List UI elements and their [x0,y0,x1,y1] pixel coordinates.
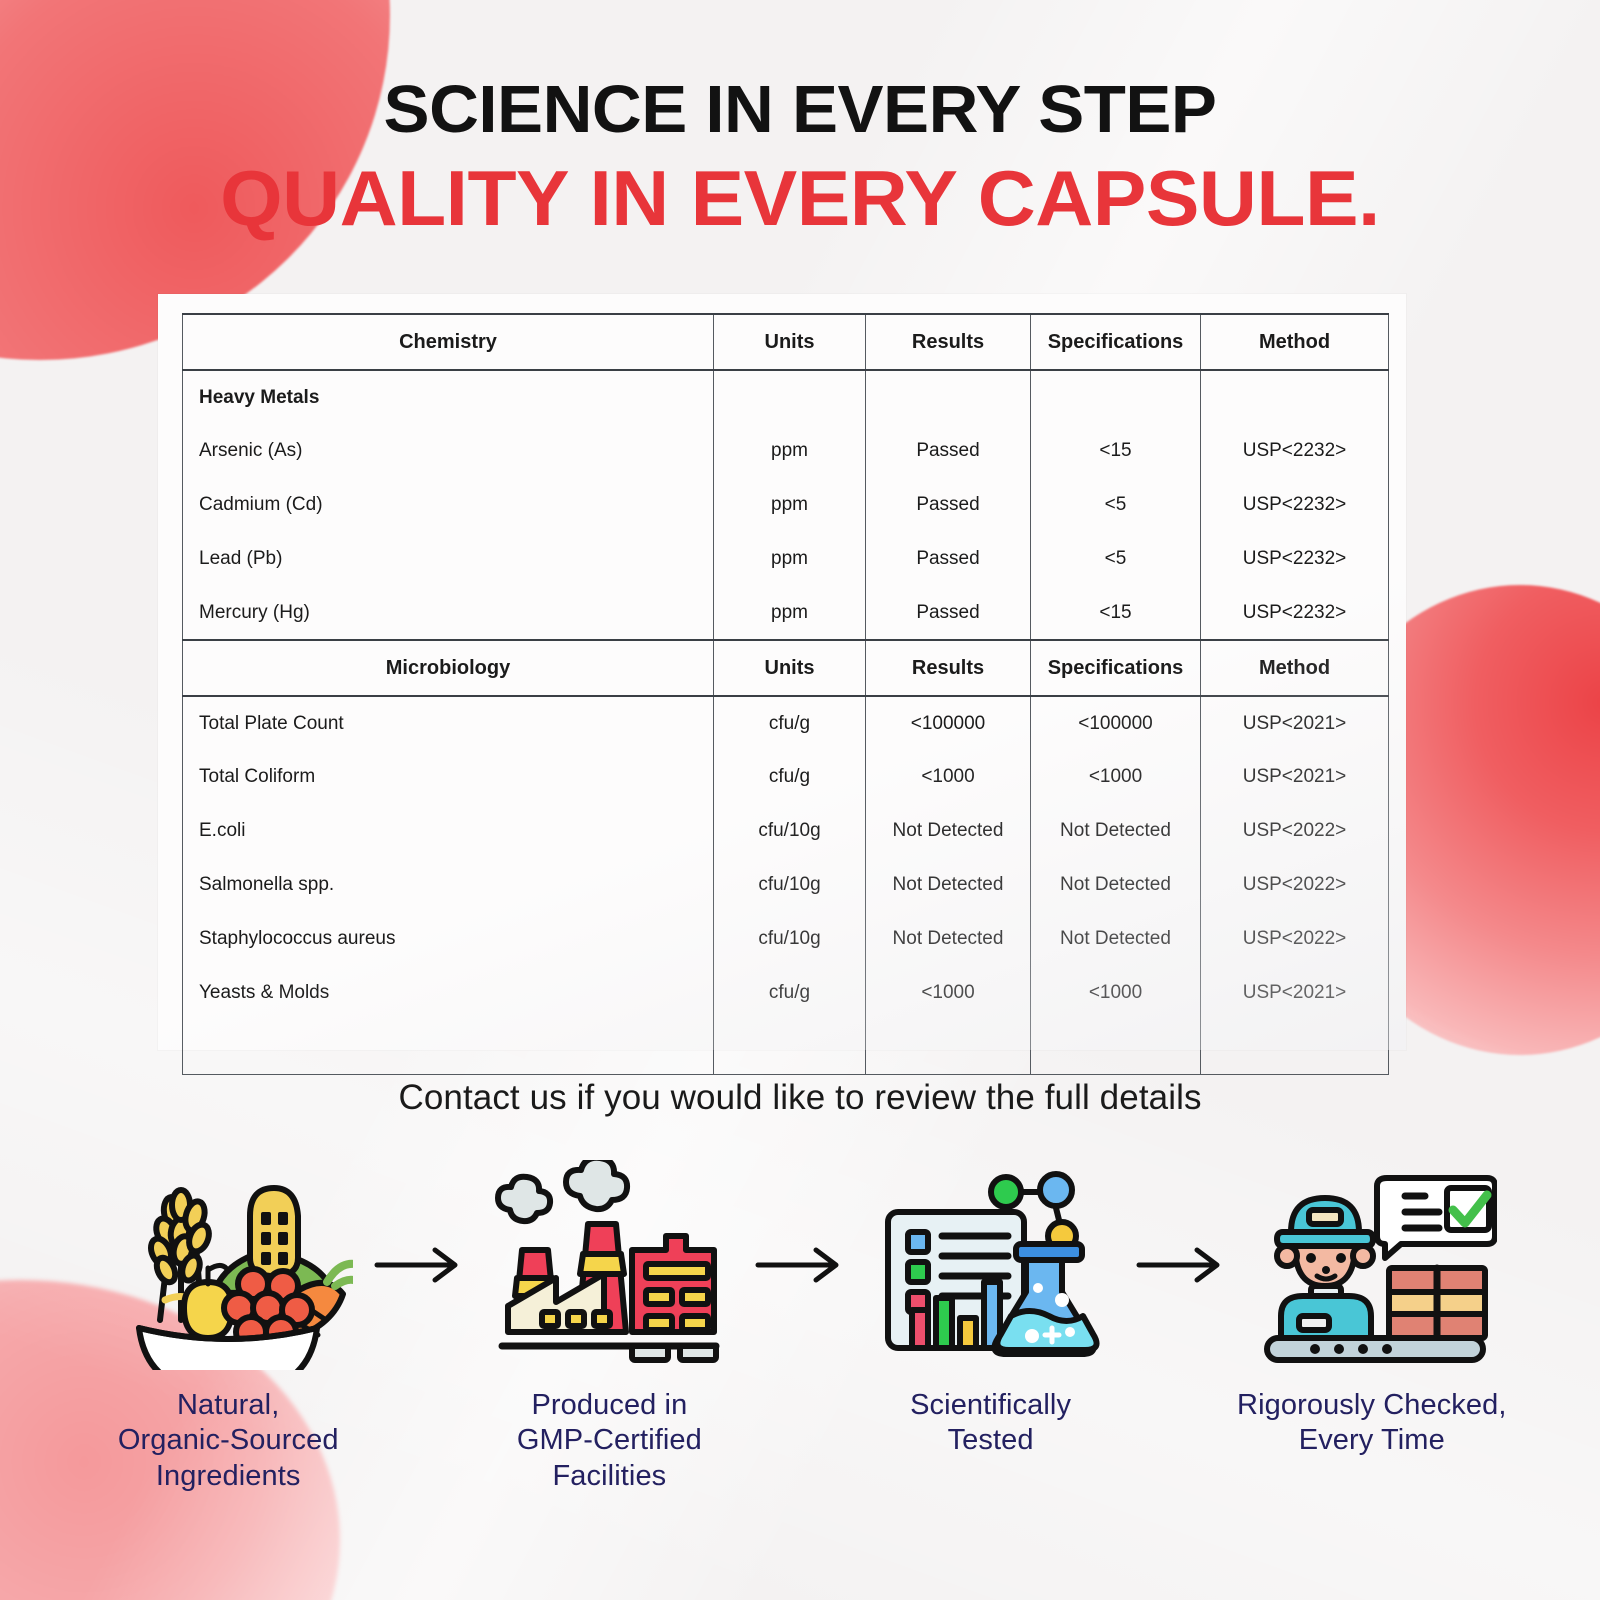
analyte-name: E.coli [183,804,714,858]
process-step-label: Rigorously Checked, Every Time [1237,1388,1506,1459]
table-row: Lead (Pb) ppm Passed <5 USP<2232> [183,532,1389,586]
process-step-testing: Scientifically Tested [852,1160,1128,1459]
analyte-spec: <15 [1031,586,1201,640]
analyte-units: cfu/10g [714,912,866,966]
table-row: Arsenic (As) ppm Passed <15 USP<2232> [183,424,1389,478]
analyte-spec: <100000 [1031,696,1201,750]
analyte-units: cfu/g [714,696,866,750]
bottom-spacer-units [714,1020,866,1074]
column-header-method-micro: Method [1201,640,1389,696]
analyte-units: ppm [714,586,866,640]
analyte-method: USP<2021> [1201,966,1389,1020]
table-row: E.coli cfu/10g Not Detected Not Detected… [183,804,1389,858]
process-step-label: Produced in GMP-Certified Facilities [517,1388,702,1494]
analyte-result: <1000 [866,750,1031,804]
analyte-name: Total Coliform [183,750,714,804]
column-header-specifications: Specifications [1031,314,1201,370]
analyte-spec: <1000 [1031,966,1201,1020]
analyte-spec: Not Detected [1031,804,1201,858]
column-header-method: Method [1201,314,1389,370]
analyte-name: Mercury (Hg) [183,586,714,640]
quality-worker-icon [1247,1160,1497,1370]
process-step-label: Natural, Organic-Sourced Ingredients [118,1388,339,1494]
analyte-result: <1000 [866,966,1031,1020]
analyte-result: <100000 [866,696,1031,750]
analyte-result: Not Detected [866,912,1031,966]
group-label-units-spacer [714,370,866,424]
analyte-result: Passed [866,586,1031,640]
analyte-result: Passed [866,424,1031,478]
table-row: Cadmium (Cd) ppm Passed <5 USP<2232> [183,478,1389,532]
process-step-facility: Produced in GMP-Certified Facilities [471,1160,747,1494]
analyte-method: USP<2022> [1201,912,1389,966]
coa-document-card: Chemistry Units Results Specifications M… [158,294,1406,1050]
lab-testing-icon [866,1160,1116,1370]
table-row: Salmonella spp. cfu/10g Not Detected Not… [183,858,1389,912]
process-strip: Natural, Organic-Sourced Ingredients [90,1160,1510,1494]
analyte-units: cfu/10g [714,858,866,912]
group-label-heavy-metals: Heavy Metals [183,370,714,424]
table-row: Mercury (Hg) ppm Passed <15 USP<2232> [183,586,1389,640]
bottom-spacer-result [866,1020,1031,1074]
analyte-units: cfu/g [714,750,866,804]
poster-canvas: SCIENCE IN EVERY STEP QUALITY IN EVERY C… [0,0,1600,1600]
table-row: Total Coliform cfu/g <1000 <1000 USP<202… [183,750,1389,804]
analyte-spec: <5 [1031,532,1201,586]
analyte-units: ppm [714,424,866,478]
arrow-right-icon [366,1160,471,1370]
process-step-label: Scientifically Tested [910,1388,1071,1459]
table-section-header-microbiology: Microbiology Units Results Specification… [183,640,1389,696]
analyte-spec: <1000 [1031,750,1201,804]
analyte-result: Not Detected [866,804,1031,858]
analyte-name: Total Plate Count [183,696,714,750]
headline-line-2: QUALITY IN EVERY CAPSULE. [0,159,1600,237]
column-header-results: Results [866,314,1031,370]
analyte-method: USP<2232> [1201,478,1389,532]
analyte-method: USP<2232> [1201,532,1389,586]
group-label-spec-spacer [1031,370,1201,424]
analyte-name: Cadmium (Cd) [183,478,714,532]
analyte-method: USP<2022> [1201,858,1389,912]
analyte-result: Not Detected [866,858,1031,912]
table-row: Total Plate Count cfu/g <100000 <100000 … [183,696,1389,750]
analyte-units: cfu/g [714,966,866,1020]
analyte-name: Salmonella spp. [183,858,714,912]
process-step-ingredients: Natural, Organic-Sourced Ingredients [90,1160,366,1494]
bottom-spacer-spec [1031,1020,1201,1074]
analyte-method: USP<2021> [1201,696,1389,750]
group-label-method-spacer [1201,370,1389,424]
analyte-spec: Not Detected [1031,858,1201,912]
analyte-spec: Not Detected [1031,912,1201,966]
fruit-bowl-icon [103,1160,353,1370]
analyte-result: Passed [866,532,1031,586]
column-header-units: Units [714,314,866,370]
column-header-microbiology: Microbiology [183,640,714,696]
process-step-quality-check: Rigorously Checked, Every Time [1234,1160,1510,1459]
arrow-right-icon [1129,1160,1234,1370]
bottom-spacer-method [1201,1020,1389,1074]
analyte-method: USP<2022> [1201,804,1389,858]
group-label-results-spacer [866,370,1031,424]
analyte-method: USP<2021> [1201,750,1389,804]
analyte-units: ppm [714,478,866,532]
table-section-header-chemistry: Chemistry Units Results Specifications M… [183,314,1389,370]
analyte-name: Staphylococcus aureus [183,912,714,966]
analyte-spec: <15 [1031,424,1201,478]
contact-note: Contact us if you would like to review t… [0,1078,1600,1118]
certificate-of-analysis-table: Chemistry Units Results Specifications M… [182,313,1389,1075]
table-row-group-heavy-metals: Heavy Metals [183,370,1389,424]
headline-block: SCIENCE IN EVERY STEP QUALITY IN EVERY C… [0,76,1600,237]
table-row: Staphylococcus aureus cfu/10g Not Detect… [183,912,1389,966]
table-row: Yeasts & Molds cfu/g <1000 <1000 USP<202… [183,966,1389,1020]
column-header-chemistry: Chemistry [183,314,714,370]
analyte-name: Arsenic (As) [183,424,714,478]
analyte-units: cfu/10g [714,804,866,858]
table-bottom-spacer-row [183,1020,1389,1074]
arrow-right-icon [748,1160,853,1370]
analyte-result: Passed [866,478,1031,532]
analyte-method: USP<2232> [1201,424,1389,478]
analyte-spec: <5 [1031,478,1201,532]
factory-icon [484,1160,734,1370]
column-header-units-micro: Units [714,640,866,696]
bottom-spacer-name [183,1020,714,1074]
analyte-units: ppm [714,532,866,586]
column-header-results-micro: Results [866,640,1031,696]
analyte-method: USP<2232> [1201,586,1389,640]
analyte-name: Yeasts & Molds [183,966,714,1020]
analyte-name: Lead (Pb) [183,532,714,586]
column-header-specifications-micro: Specifications [1031,640,1201,696]
headline-line-1: SCIENCE IN EVERY STEP [0,76,1600,143]
